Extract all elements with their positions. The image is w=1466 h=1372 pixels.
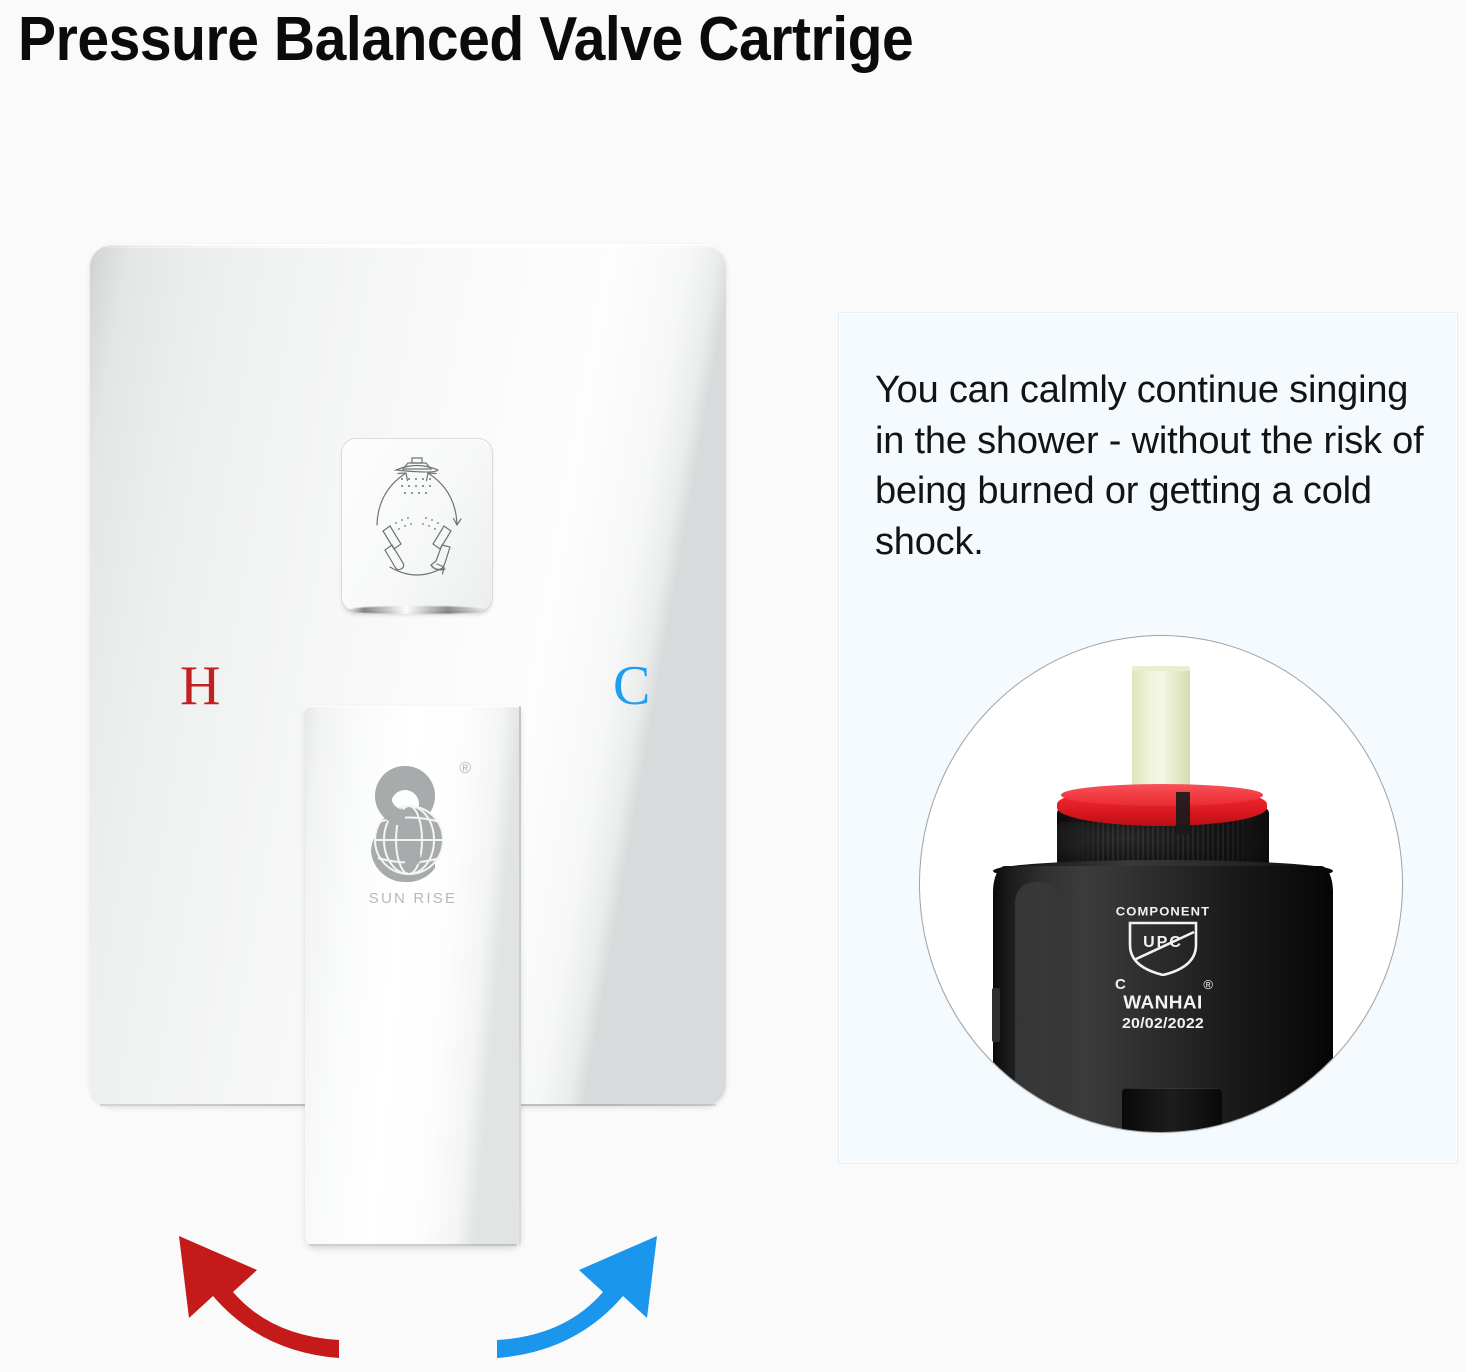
product-marketing-image: Pressure Balanced Valve Cartrige	[0, 0, 1466, 1372]
diverter-button-shadow	[347, 606, 487, 614]
shower-diverter-cycle-icon	[342, 439, 492, 611]
brand-name: SUN RISE	[357, 890, 469, 907]
certification-c-row: C ®	[1087, 976, 1239, 993]
info-panel-text: You can calmly continue singing in the s…	[875, 365, 1435, 567]
cartridge-body-slot	[1122, 1088, 1222, 1133]
plate-top-highlight	[104, 245, 712, 248]
cartridge-red-collar-top	[1061, 784, 1263, 806]
cartridge-stem	[1132, 666, 1190, 788]
certification-brand-text: WANHAI	[1087, 994, 1239, 1015]
cartridge-body-highlight	[1015, 882, 1061, 1133]
certification-registered-icon: ®	[1203, 977, 1213, 992]
cartridge-body-side-notch	[992, 988, 1000, 1042]
certification-c-text: C	[1115, 976, 1126, 993]
page-title: Pressure Balanced Valve Cartrige	[18, 4, 913, 75]
diverter-button[interactable]	[341, 438, 493, 612]
hot-rotation-arrow	[96, 1178, 346, 1372]
cartridge-collar-notch	[1176, 792, 1190, 834]
cold-rotation-arrow	[490, 1178, 740, 1372]
info-panel: You can calmly continue singing in the s…	[838, 312, 1458, 1164]
hot-temperature-mark: H	[180, 658, 220, 714]
cold-temperature-mark: C	[613, 658, 650, 714]
brand-logo: ® SUN RISE	[355, 758, 471, 926]
brand-registered-icon: ®	[459, 760, 471, 778]
pressure-balanced-cartridge-photo: COMPONENT UPC C ® WANHAI 20/02/2022	[919, 635, 1403, 1133]
certification-date-text: 20/02/2022	[1087, 1015, 1239, 1032]
handle-right-edge	[519, 706, 521, 1246]
sunrise-s-globe-logo	[355, 758, 471, 886]
upc-shield-icon: UPC	[1126, 920, 1200, 976]
certification-component-text: COMPONENT	[1087, 905, 1239, 919]
upc-shield-text: UPC	[1126, 934, 1200, 952]
cartridge-stem-top	[1132, 666, 1190, 671]
certification-label: COMPONENT UPC C ® WANHAI 20/02/2022	[1087, 904, 1239, 1033]
handle-top-cap	[307, 700, 519, 709]
